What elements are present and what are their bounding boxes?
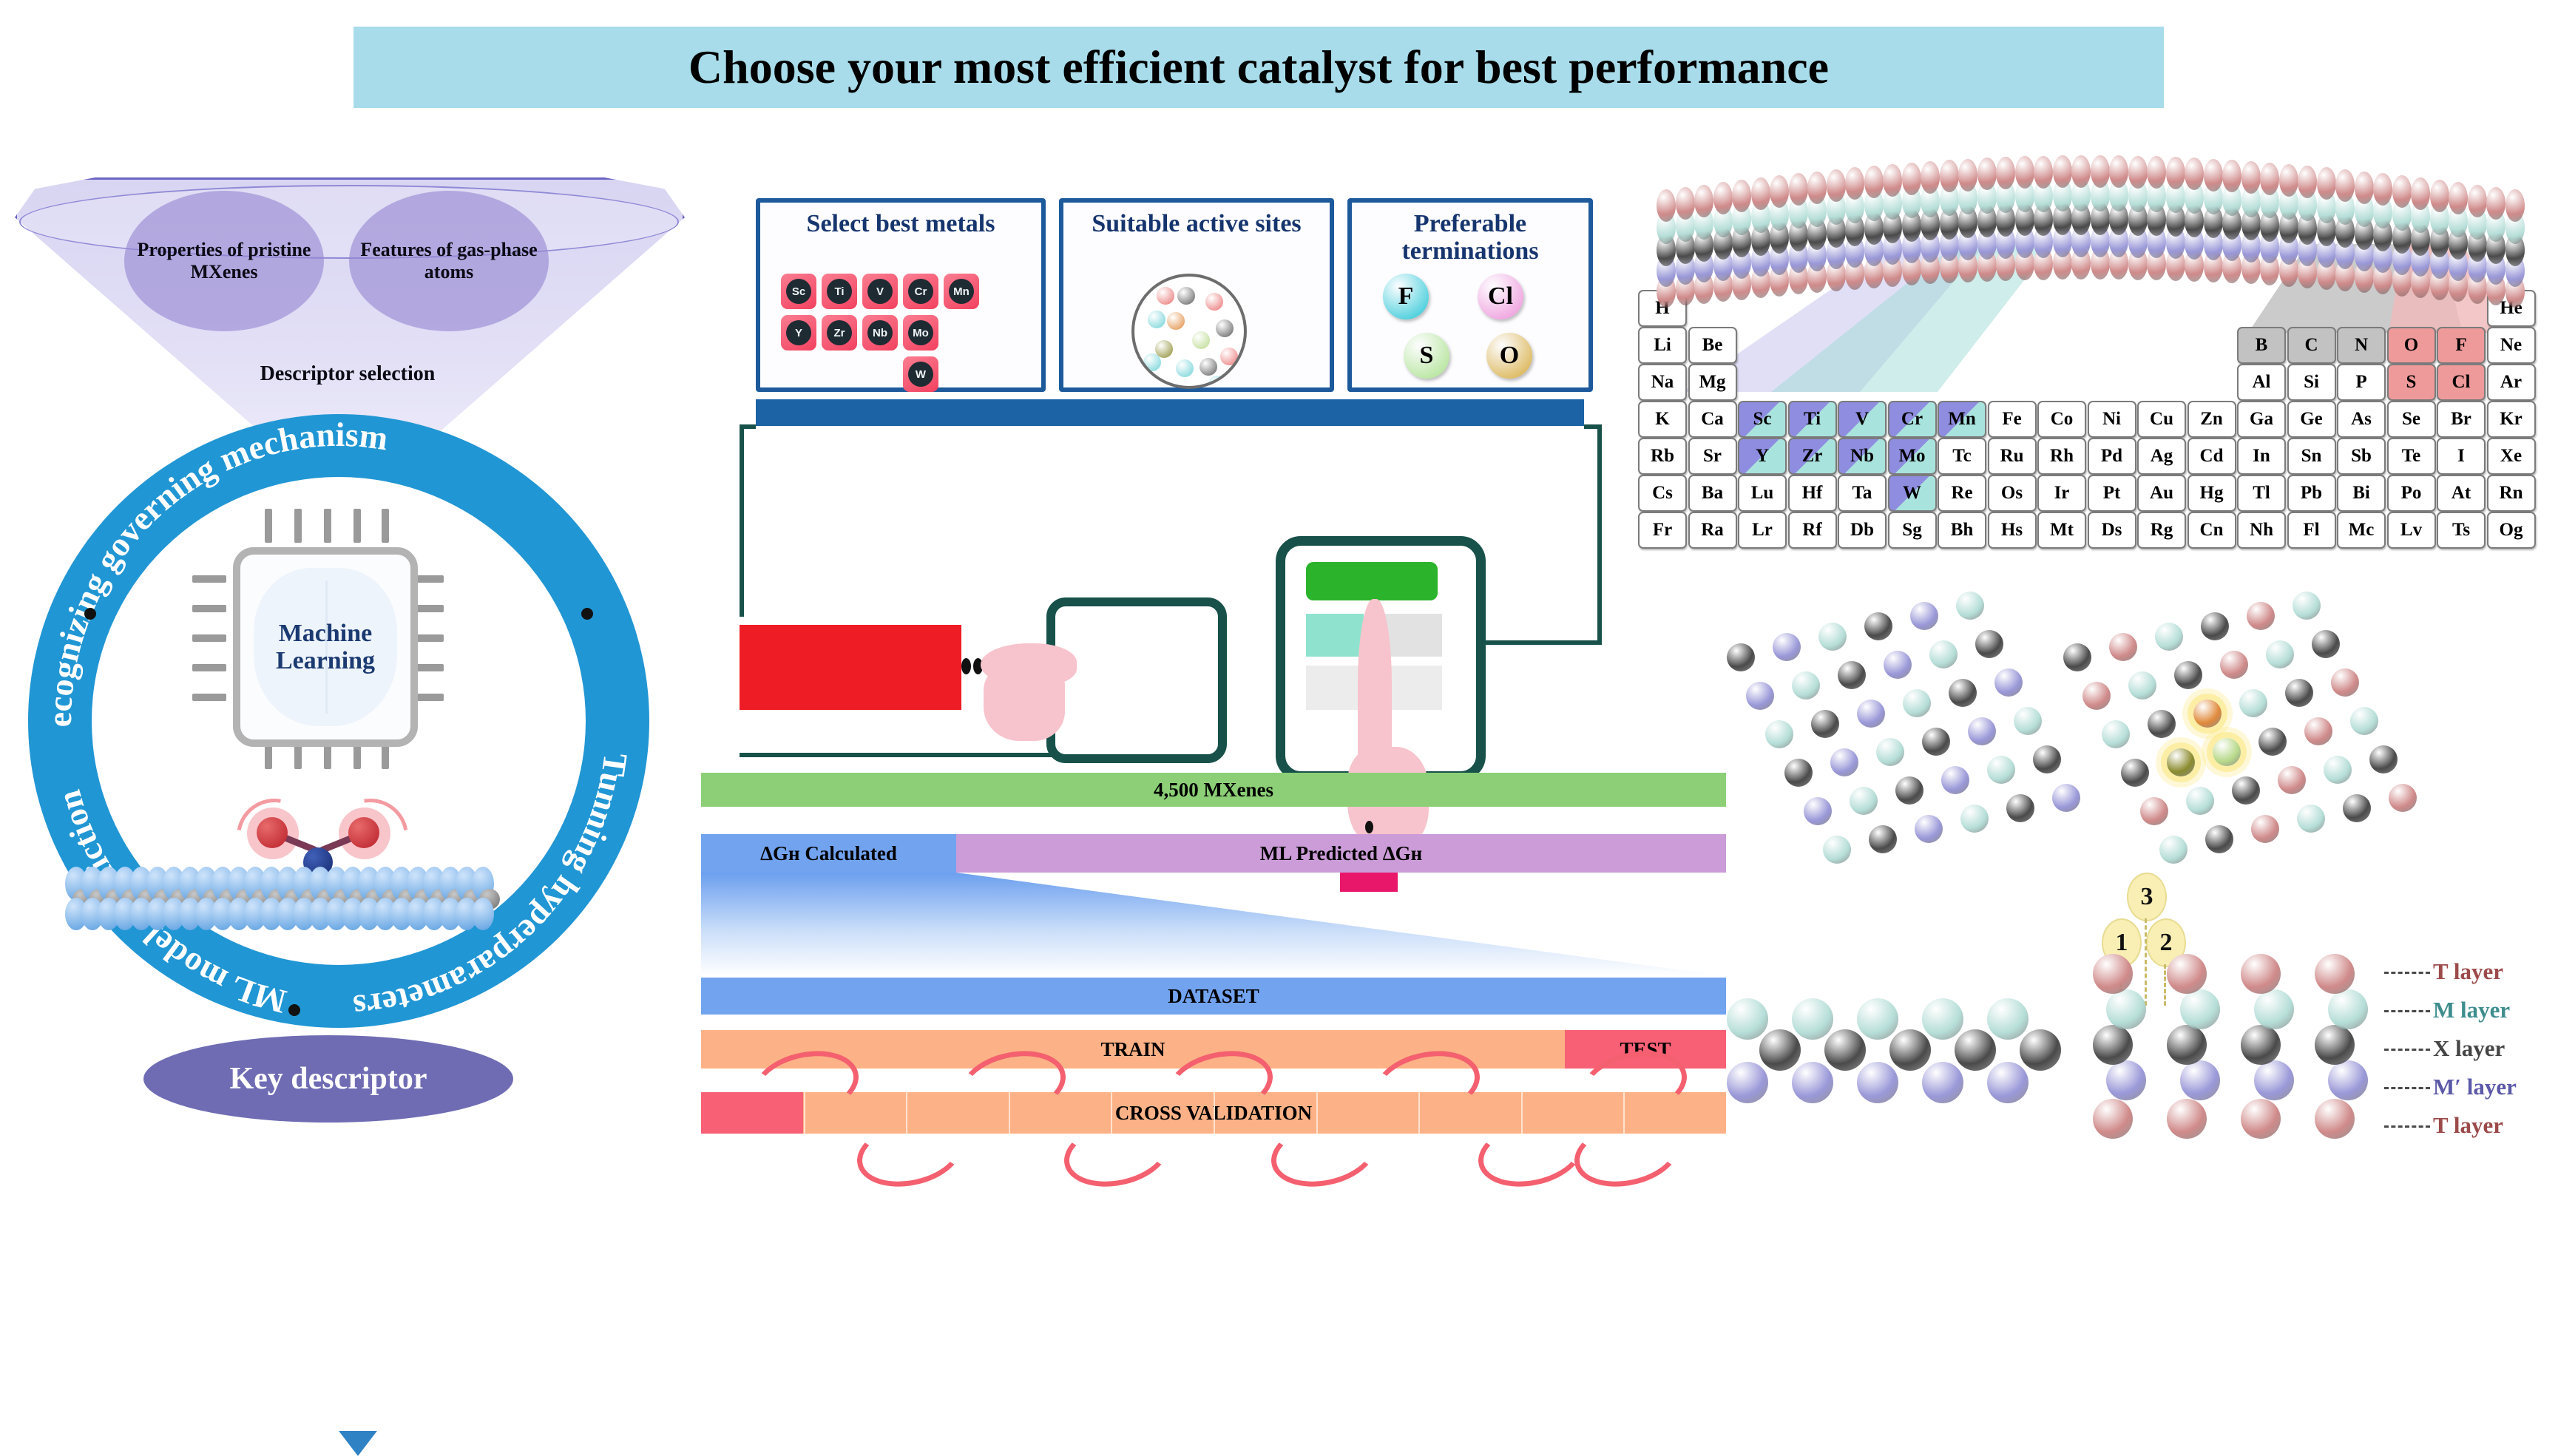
layer-atom-1: [2328, 989, 2368, 1029]
pt-cell-label-br: Br: [2451, 409, 2471, 430]
pt-cell-po[interactable]: Po: [2387, 475, 2436, 512]
pt-cell-hf[interactable]: Hf: [1788, 475, 1837, 512]
pt-cell-label-rh: Rh: [2050, 446, 2074, 467]
pt-cell-at[interactable]: At: [2437, 475, 2486, 512]
pt-cell-sn[interactable]: Sn: [2287, 438, 2336, 475]
top-view-sites-atom: [2193, 700, 2222, 728]
pt-cell-li[interactable]: Li: [1638, 327, 1687, 364]
pt-cell-label-s: S: [2406, 372, 2417, 393]
pt-cell-kr[interactable]: Kr: [2487, 401, 2536, 438]
pt-cell-cd[interactable]: Cd: [2188, 438, 2236, 475]
connector-right-to-tablet: [1466, 640, 1602, 645]
pt-cell-label-ba: Ba: [1702, 483, 1723, 504]
metal-tile-v[interactable]: V: [862, 274, 898, 309]
layer-atom-3: [2254, 1060, 2294, 1100]
pt-cell-as[interactable]: As: [2337, 401, 2386, 438]
pt-cell-lr[interactable]: Lr: [1738, 512, 1787, 549]
sheet-atom-0: [2241, 161, 2261, 194]
pt-cell-label-cd: Cd: [2200, 446, 2224, 467]
pt-cell-te[interactable]: Te: [2387, 438, 2436, 475]
top-view-sites-atom: [2297, 805, 2325, 833]
layer-atom-4: [2315, 1099, 2355, 1139]
top-view-sites-atom: [2251, 815, 2279, 843]
pt-cell-label-rb: Rb: [1651, 446, 1674, 467]
top-view-plain-atom: [1850, 787, 1878, 815]
top-view-sites-atom: [2109, 633, 2137, 661]
top-view-plain-atom: [1975, 630, 2003, 658]
process-blue-bar: [756, 399, 1584, 426]
layer-atom-2: [2093, 1025, 2133, 1065]
pt-cell-label-at: At: [2452, 483, 2471, 504]
top-view-sites-atom: [2266, 640, 2294, 668]
pt-cell-zn[interactable]: Zn: [2188, 401, 2236, 438]
pt-cell-rg[interactable]: Rg: [2137, 512, 2186, 549]
pt-cell-og[interactable]: Og: [2487, 512, 2536, 549]
pt-cell-ar[interactable]: Ar: [2487, 364, 2536, 401]
top-view-plain-atom: [1994, 668, 2023, 697]
pt-cell-pd[interactable]: Pd: [2088, 438, 2136, 475]
pt-cell-pb[interactable]: Pb: [2287, 475, 2336, 512]
pt-cell-label-lu: Lu: [1751, 483, 1774, 504]
top-view-plain-atom: [1773, 633, 1801, 661]
pt-cell-label-mc: Mc: [2349, 520, 2375, 541]
layer-label-0: T layer: [2433, 958, 2503, 985]
top-view-sites-atom: [2082, 682, 2111, 710]
top-view-sites-atom: [2389, 784, 2417, 812]
layer-leader-2: [2384, 1049, 2430, 1051]
ring-bullet-right: [581, 608, 593, 620]
metal-tile-w[interactable]: W: [903, 356, 938, 392]
card-title-select-best-metals: Select best metals: [760, 210, 1041, 237]
pt-cell-i[interactable]: I: [2437, 438, 2486, 475]
pt-cell-mc[interactable]: Mc: [2337, 512, 2386, 549]
top-view-sites-atom: [2205, 825, 2233, 853]
pt-cell-n[interactable]: N: [2337, 327, 2386, 364]
top-view-sites-atom: [2201, 612, 2229, 640]
pt-cell-cr[interactable]: Cr: [1888, 401, 1937, 438]
pt-cell-k[interactable]: K: [1638, 401, 1687, 438]
site-badge-3[interactable]: 3: [2127, 873, 2167, 921]
signal-dot-1: [961, 658, 971, 674]
title-banner: Choose your most efficient catalyst for …: [353, 27, 2164, 108]
pt-cell-ta[interactable]: Ta: [1838, 475, 1887, 512]
pt-cell-label-ds: Ds: [2102, 520, 2122, 541]
top-view-sites-atom: [2102, 720, 2130, 748]
pt-cell-in[interactable]: In: [2237, 438, 2286, 475]
sphere-atom: [1176, 359, 1194, 377]
card-preferable-terminations[interactable]: Preferable terminations FClSO: [1347, 198, 1593, 392]
pt-cell-rf[interactable]: Rf: [1788, 512, 1837, 549]
termination-cl[interactable]: Cl: [1478, 274, 1523, 319]
pt-cell-cl[interactable]: Cl: [2437, 364, 2486, 401]
pt-cell-label-hs: Hs: [2001, 520, 2023, 541]
pt-cell-label-sb: Sb: [2351, 446, 2372, 467]
pt-cell-label-co: Co: [2051, 409, 2074, 430]
pt-cell-na[interactable]: Na: [1638, 364, 1687, 401]
descriptor-bubble-gas-phase-atoms: Features of gas-phase atoms: [349, 191, 549, 331]
top-view-plain-atom: [1830, 748, 1858, 776]
sphere-atom: [1157, 287, 1174, 305]
card-title-suitable-active-sites: Suitable active sites: [1063, 210, 1330, 237]
top-view-sites-atom: [2293, 592, 2321, 620]
pt-cell-ni[interactable]: Ni: [2088, 401, 2136, 438]
pt-cell-sg[interactable]: Sg: [1888, 512, 1937, 549]
metal-tile-y[interactable]: Y: [781, 315, 816, 351]
top-view-plain-atom: [1922, 728, 1950, 756]
pt-cell-cn[interactable]: Cn: [2188, 512, 2236, 549]
pt-cell-label-be: Be: [1702, 335, 1723, 356]
top-view-sites-atom: [2304, 717, 2332, 745]
top-view-sites-atom: [2167, 748, 2195, 776]
top-view-sites-atom: [2220, 651, 2248, 679]
metal-tile-zr[interactable]: Zr: [822, 315, 857, 351]
layer-atom-2: [2315, 1025, 2355, 1065]
top-view-plain-atom: [1857, 700, 1885, 728]
pt-cell-o[interactable]: O: [2387, 327, 2436, 364]
structure-top-view-active-sites: [2063, 584, 2448, 880]
top-view-plain-atom: [1929, 640, 1958, 668]
top-view-plain-atom: [1811, 710, 1839, 738]
structure-top-view-plain: [1727, 584, 2111, 895]
termination-o[interactable]: O: [1486, 333, 1532, 379]
pt-cell-f[interactable]: F: [2437, 327, 2486, 364]
connector-left-down: [740, 424, 744, 617]
pt-cell-label-c: C: [2304, 335, 2318, 356]
pt-cell-ts[interactable]: Ts: [2437, 512, 2486, 549]
pt-cell-label-n: N: [2355, 335, 2368, 356]
sphere-atom: [1216, 319, 1234, 337]
pt-cell-ra[interactable]: Ra: [1688, 512, 1737, 549]
top-view-sites-atom: [2155, 623, 2183, 651]
pt-cell-mt[interactable]: Mt: [2037, 512, 2086, 549]
sheet-atom-0: [2222, 160, 2241, 192]
sheet-atom-0: [2204, 159, 2223, 192]
card-title-preferable-terminations: Preferable terminations: [1352, 210, 1588, 265]
metal-tile-cr[interactable]: Cr: [903, 274, 938, 309]
pt-cell-label-ta: Ta: [1852, 483, 1872, 504]
pt-cell-ti[interactable]: Ti: [1788, 401, 1837, 438]
pt-cell-mg[interactable]: Mg: [1688, 364, 1737, 401]
layer-label-group: T layerM layerX layerM′ layerT layer: [2433, 954, 2558, 1161]
pt-cell-label-in: In: [2253, 446, 2270, 467]
pt-cell-label-bi: Bi: [2352, 483, 2370, 504]
chip-pin-left-5: [192, 694, 226, 701]
pt-cell-cs[interactable]: Cs: [1638, 475, 1687, 512]
sheet-atom-0: [1676, 187, 1695, 220]
ml-cycle-ring: Recognizing governing mechanism Tunning …: [28, 414, 649, 1028]
pt-cell-label-hg: Hg: [2200, 483, 2224, 504]
sheet-atom-0: [1977, 158, 1997, 190]
pt-cell-label-nh: Nh: [2250, 520, 2273, 541]
tablet-green-button[interactable]: [1306, 562, 1438, 600]
side-view-atom: [1727, 1062, 1768, 1103]
metal-tile-sc[interactable]: Sc: [781, 274, 816, 309]
pt-cell-label-se: Se: [2402, 409, 2420, 430]
card-select-best-metals[interactable]: Select best metals ScTiVCrMnYZrNbMoW: [756, 198, 1046, 392]
pt-cell-label-cl: Cl: [2452, 372, 2471, 393]
layer-atom-2: [2241, 1025, 2281, 1065]
metal-tile-mo[interactable]: Mo: [903, 315, 938, 351]
layer-atom-2: [2167, 1025, 2207, 1065]
metal-tile-ti[interactable]: Ti: [822, 274, 857, 309]
page-title: Choose your most efficient catalyst for …: [688, 40, 1829, 95]
pt-cell-br[interactable]: Br: [2437, 401, 2486, 438]
side-view-atom: [1987, 998, 2029, 1040]
sheet-atom-0: [2411, 177, 2430, 210]
pt-cell-lu[interactable]: Lu: [1738, 475, 1787, 512]
pt-cell-ca[interactable]: Ca: [1688, 401, 1737, 438]
sheet-atom-0: [2166, 157, 2185, 189]
top-view-sites-atom: [2174, 661, 2202, 689]
pt-cell-label-tl: Tl: [2253, 483, 2270, 504]
layer-label-2: X layer: [2433, 1035, 2505, 1062]
sheet-atom-0: [2392, 175, 2412, 208]
layer-leader-0: [2384, 972, 2430, 974]
sheet-atom-0: [1958, 159, 1977, 192]
side-view-atom: [1857, 1062, 1898, 1103]
pt-cell-hs[interactable]: Hs: [1988, 512, 2037, 549]
pt-cell-label-mg: Mg: [1699, 372, 1725, 393]
pt-cell-si[interactable]: Si: [2287, 364, 2336, 401]
side-view-atom: [1727, 998, 1768, 1040]
sheet-atom-0: [2335, 169, 2355, 202]
pipeline-funnel-gradient: [701, 873, 1726, 976]
top-view-plain-atom: [1818, 623, 1847, 651]
top-view-plain-atom: [2014, 707, 2042, 735]
sheet-atom-0: [2317, 167, 2336, 200]
pt-cell-ag[interactable]: Ag: [2137, 438, 2186, 475]
layer-atom-0: [2241, 954, 2281, 994]
chip-label-machine: Machine: [279, 620, 373, 647]
side-view-atom: [1824, 1029, 1866, 1071]
card-suitable-active-sites[interactable]: Suitable active sites: [1059, 198, 1334, 392]
pt-cell-sb[interactable]: Sb: [2337, 438, 2386, 475]
pt-cell-mo[interactable]: Mo: [1888, 438, 1937, 475]
top-view-plain-atom: [1968, 717, 1996, 745]
pt-cell-label-mn: Mn: [1948, 409, 1976, 430]
pt-cell-label-ru: Ru: [2000, 446, 2024, 467]
pt-cell-label-na: Na: [1651, 372, 1674, 393]
pt-cell-nh[interactable]: Nh: [2237, 512, 2286, 549]
pt-cell-nb[interactable]: Nb: [1838, 438, 1887, 475]
termination-f[interactable]: F: [1383, 274, 1429, 319]
layer-label-1: M layer: [2433, 997, 2510, 1023]
pt-cell-label-po: Po: [2401, 483, 2422, 504]
pt-cell-y[interactable]: Y: [1738, 438, 1787, 475]
pt-cell-rn[interactable]: Rn: [2487, 475, 2536, 512]
active-sites-sphere-icon: [1131, 274, 1247, 389]
pt-cell-sr[interactable]: Sr: [1688, 438, 1737, 475]
pt-cell-fr[interactable]: Fr: [1638, 512, 1687, 549]
tablet-teal-panel: [1306, 614, 1364, 657]
sheet-atom-0: [1883, 164, 1902, 197]
pt-cell-label-kr: Kr: [2500, 409, 2523, 430]
top-view-plain-atom: [1960, 805, 1989, 833]
chip-pin-top-5: [382, 509, 389, 543]
pt-cell-label-ti: Ti: [1804, 409, 1821, 430]
pt-cell-ga[interactable]: Ga: [2237, 401, 2286, 438]
top-view-sites-atom: [2278, 766, 2306, 794]
pt-cell-label-cn: Cn: [2200, 520, 2224, 541]
chip-pin-top-4: [353, 509, 361, 543]
sheet-atom-0: [1694, 185, 1713, 217]
pt-cell-label-pd: Pd: [2101, 446, 2122, 467]
sphere-atom: [1205, 293, 1223, 311]
pt-cell-rb[interactable]: Rb: [1638, 438, 1687, 475]
top-view-plain-atom: [2052, 784, 2080, 812]
bar-dataset: DATASET: [701, 978, 1726, 1015]
key-descriptor-node: Key descriptor: [143, 1035, 513, 1123]
side-view-atom: [1792, 1062, 1833, 1103]
top-view-plain-atom: [1823, 836, 1851, 864]
pt-cell-pt[interactable]: Pt: [2088, 475, 2136, 512]
pt-cell-fl[interactable]: Fl: [2287, 512, 2336, 549]
bar-ml-predicted: ML Predicted ΔGʜ: [956, 834, 1726, 873]
pt-cell-label-si: Si: [2304, 372, 2319, 393]
metal-tile-mn[interactable]: Mn: [944, 274, 979, 309]
pt-cell-label-re: Re: [1951, 483, 1972, 504]
pt-cell-label-k: K: [1655, 409, 1669, 430]
layer-atom-4: [2241, 1099, 2281, 1139]
pt-cell-bh[interactable]: Bh: [1938, 512, 1986, 549]
sphere-atom: [1200, 358, 1217, 376]
pt-cell-db[interactable]: Db: [1838, 512, 1887, 549]
pt-cell-label-ga: Ga: [2250, 409, 2273, 430]
top-view-sites-atom: [2063, 643, 2091, 671]
chip-pin-left-1: [192, 575, 226, 583]
pt-cell-label-cr: Cr: [1901, 409, 1923, 430]
ring-output-arrow: [339, 1431, 377, 1456]
pt-cell-al[interactable]: Al: [2237, 364, 2286, 401]
sheet-atom-0: [1770, 175, 1789, 208]
pt-cell-ru[interactable]: Ru: [1988, 438, 2037, 475]
top-view-sites-atom: [2312, 630, 2340, 658]
mxene-substrate: [65, 867, 488, 932]
sheet-atom-0: [1807, 172, 1827, 204]
top-view-sites-atom: [2159, 836, 2188, 864]
top-view-plain-atom: [1956, 592, 1984, 620]
structure-side-view-left: [1727, 983, 2045, 1154]
side-view-atom: [1857, 998, 1898, 1040]
site-leader-line-3: [2145, 918, 2147, 1006]
pt-cell-hg[interactable]: Hg: [2188, 475, 2236, 512]
metal-tile-nb[interactable]: Nb: [862, 315, 898, 351]
pt-cell-label-y: Y: [1756, 446, 1769, 467]
pt-cell-mn[interactable]: Mn: [1938, 401, 1986, 438]
sphere-atom: [1177, 287, 1195, 305]
pt-cell-rh[interactable]: Rh: [2037, 438, 2086, 475]
pt-cell-os[interactable]: Os: [1988, 475, 2037, 512]
layer-atom-0: [2167, 954, 2207, 994]
sphere-atom: [1148, 311, 1165, 328]
sheet-atom-0: [2071, 155, 2091, 188]
pt-cell-label-rg: Rg: [2151, 520, 2173, 541]
pt-cell-se[interactable]: Se: [2387, 401, 2436, 438]
layer-atom-3: [2328, 1060, 2368, 1100]
top-view-sites-atom: [2350, 707, 2378, 735]
top-view-plain-atom: [1792, 671, 1820, 700]
top-view-plain-atom: [1838, 661, 1866, 689]
pt-cell-label-p: P: [2355, 372, 2366, 393]
termination-s[interactable]: S: [1404, 333, 1449, 379]
sheet-atom-0: [2109, 155, 2128, 188]
descriptor-bubble-pristine-mxenes: Properties of pristine MXenes: [124, 191, 324, 331]
sheet-atom-0: [2486, 187, 2505, 220]
top-view-sites-atom: [2186, 787, 2214, 815]
metal-tile-label-nb: Nb: [867, 320, 893, 345]
side-view-atom: [1759, 1029, 1801, 1071]
top-view-sites-atom: [2232, 776, 2260, 805]
pt-cell-xe[interactable]: Xe: [2487, 438, 2536, 475]
pt-cell-label-zr: Zr: [1802, 446, 1823, 467]
top-view-sites-atom: [2331, 668, 2359, 697]
pt-cell-ge[interactable]: Ge: [2287, 401, 2336, 438]
pt-cell-lv[interactable]: Lv: [2387, 512, 2436, 549]
pt-cell-ba[interactable]: Ba: [1688, 475, 1737, 512]
pt-cell-zr[interactable]: Zr: [1788, 438, 1837, 475]
top-view-plain-atom: [1876, 738, 1904, 766]
side-view-atom: [2020, 1029, 2061, 1071]
ring-bullet-bottom: [288, 1004, 300, 1016]
pt-cell-tl[interactable]: Tl: [2237, 475, 2286, 512]
pt-cell-sc[interactable]: Sc: [1738, 401, 1787, 438]
pt-cell-label-f: F: [2455, 335, 2466, 356]
pt-cell-tc[interactable]: Tc: [1938, 438, 1986, 475]
metal-tile-label-zr: Zr: [827, 320, 852, 345]
side-view-atom: [1889, 1029, 1931, 1071]
chip-pin-left-4: [192, 664, 226, 671]
pt-cell-re[interactable]: Re: [1938, 475, 1986, 512]
pt-cell-label-au: Au: [2150, 483, 2173, 504]
pt-cell-label-al: Al: [2253, 372, 2271, 393]
top-view-sites-atom: [2343, 794, 2371, 822]
pt-cell-au[interactable]: Au: [2137, 475, 2186, 512]
pt-cell-label-ts: Ts: [2452, 520, 2470, 541]
pt-cell-ds[interactable]: Ds: [2088, 512, 2136, 549]
pt-cell-s[interactable]: S: [2387, 364, 2436, 401]
layer-leader-1: [2384, 1010, 2430, 1012]
pt-cell-p[interactable]: P: [2337, 364, 2386, 401]
pt-cell-v[interactable]: V: [1838, 401, 1887, 438]
top-view-plain-atom: [1903, 689, 1931, 717]
sphere-atom: [1192, 331, 1210, 349]
pt-cell-label-mo: Mo: [1898, 446, 1925, 467]
pt-cell-b[interactable]: B: [2237, 327, 2286, 364]
top-view-sites-atom: [2213, 738, 2241, 766]
metal-tile-label-mo: Mo: [908, 320, 933, 345]
top-view-sites-atom: [2369, 745, 2398, 773]
pt-cell-c[interactable]: C: [2287, 327, 2336, 364]
pt-cell-be[interactable]: Be: [1688, 327, 1737, 364]
pt-cell-fe[interactable]: Fe: [1988, 401, 2037, 438]
pt-cell-label-rf: Rf: [1802, 520, 1821, 541]
descriptor-selection-caption: Descriptor selection: [15, 362, 680, 386]
pt-cell-ne[interactable]: Ne: [2487, 327, 2536, 364]
pt-cell-w[interactable]: W: [1888, 475, 1937, 512]
pt-cell-ir[interactable]: Ir: [2037, 475, 2086, 512]
tablet-left[interactable]: [1046, 597, 1227, 763]
pt-cell-co[interactable]: Co: [2037, 401, 2086, 438]
sphere-atom: [1208, 376, 1226, 389]
top-view-plain-atom: [1727, 643, 1755, 671]
top-view-plain-atom: [1784, 759, 1813, 787]
metal-tile-label-y: Y: [786, 320, 811, 345]
top-view-sites-atom: [2121, 759, 2149, 787]
pt-cell-label-ne: Ne: [2500, 335, 2522, 356]
pt-cell-cu[interactable]: Cu: [2137, 401, 2186, 438]
pt-cell-bi[interactable]: Bi: [2337, 475, 2386, 512]
pt-cell-label-ge: Ge: [2300, 409, 2323, 430]
